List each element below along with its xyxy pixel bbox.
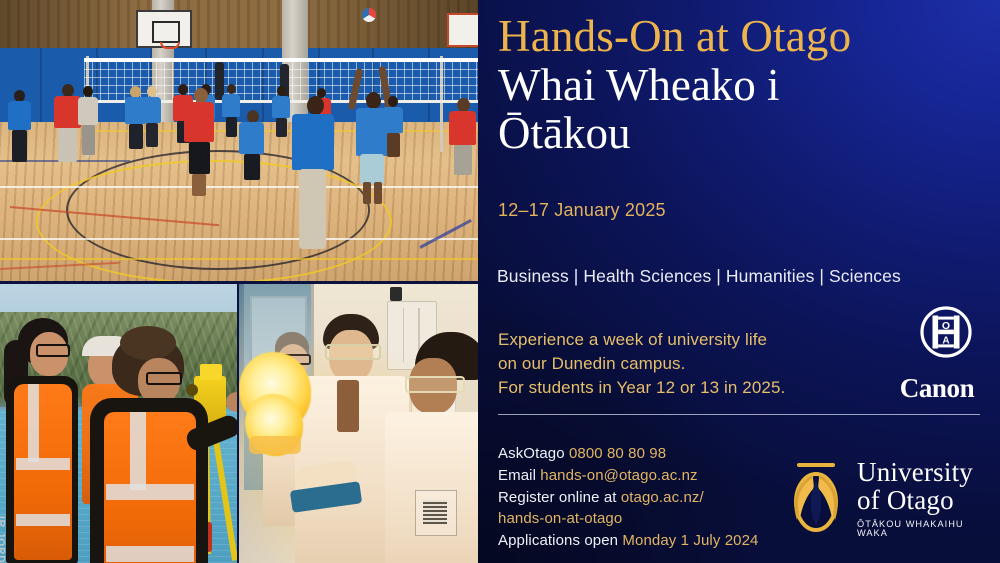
photo-surveying-fieldwork: IR JORDA: [0, 284, 237, 563]
title-line-1: Hands-On at Otago: [498, 14, 978, 60]
askotago-label: AskOtago: [498, 445, 565, 462]
player: [238, 110, 266, 188]
university-of-otago-logo: University of Otago ŌTĀKOU WHAKAIHU WAKA: [783, 457, 993, 541]
photo-laboratory-session: [239, 284, 478, 563]
player-foreground: [182, 88, 216, 198]
coach-foreground: [290, 96, 336, 256]
email-label: Email: [498, 467, 536, 484]
hoa-icon: O A: [919, 305, 973, 359]
page-title: Hands-On at Otago Whai Wheako i Ōtākou: [498, 14, 978, 157]
info-panel: Hands-On at Otago Whai Wheako i Ōtākou 1…: [478, 0, 1000, 563]
askotago-phone[interactable]: 0800 80 80 98: [569, 445, 666, 462]
player: [6, 90, 34, 170]
subject-areas: Business | Health Sciences | Humanities …: [497, 266, 901, 287]
hands-on-at-otago-logo: O A: [919, 305, 973, 359]
university-line-1: University: [857, 459, 997, 486]
contact-email: Email hands-on@otago.ac.nz: [498, 465, 758, 487]
register-label: Register online at: [498, 489, 617, 506]
player: [448, 98, 478, 182]
poster: IR JORDA: [0, 0, 1000, 563]
svg-text:A: A: [942, 336, 949, 347]
contact-askotago: AskOtago 0800 80 80 98: [498, 443, 758, 465]
description-line-1: Experience a week of university life: [498, 328, 785, 352]
description: Experience a week of university life on …: [498, 328, 785, 400]
event-dates: 12–17 January 2025: [498, 200, 666, 221]
canon-logo: Canon: [897, 373, 977, 404]
title-line-2: Whai Wheako i: [498, 63, 978, 109]
description-line-2: on our Dunedin campus.: [498, 352, 785, 376]
safety-glasses: [325, 344, 381, 360]
divider: [498, 414, 980, 415]
player: [382, 96, 406, 164]
otago-wordmark: University of Otago ŌTĀKOU WHAKAIHU WAKA: [857, 459, 997, 538]
eyeglasses: [36, 344, 70, 357]
contact-register: Register online at otago.ac.nz/: [498, 487, 758, 509]
player: [78, 86, 100, 166]
photo-collage: IR JORDA: [0, 0, 478, 563]
contact-details: AskOtago 0800 80 80 98 Email hands-on@ot…: [498, 443, 758, 552]
university-line-2: of Otago: [857, 487, 997, 514]
email-address[interactable]: hands-on@otago.ac.nz: [540, 467, 697, 484]
title-line-3: Ōtākou: [498, 111, 978, 157]
description-line-3: For students in Year 12 or 13 in 2025.: [498, 376, 785, 400]
applications-label: Applications open: [498, 532, 618, 549]
player: [272, 86, 292, 142]
photo-volleyball-gym: [0, 0, 478, 281]
svg-text:O: O: [942, 320, 950, 332]
basketball-backboard-far: [447, 13, 478, 47]
contact-register-2: hands-on-at-otago: [498, 508, 758, 530]
safety-glasses: [405, 376, 465, 393]
register-url-part1[interactable]: otago.ac.nz/: [621, 489, 704, 506]
register-url-part2[interactable]: hands-on-at-otago: [498, 510, 622, 527]
volleyball: [362, 8, 376, 22]
applications-date: Monday 1 July 2024: [622, 532, 758, 549]
contact-applications: Applications open Monday 1 July 2024: [498, 530, 758, 552]
university-maori-name: ŌTĀKOU WHAKAIHU WAKA: [857, 520, 997, 538]
otago-crest-icon: [783, 460, 849, 534]
eyeglasses: [146, 372, 182, 385]
basketball-backboard: [136, 10, 192, 48]
player: [142, 86, 164, 156]
